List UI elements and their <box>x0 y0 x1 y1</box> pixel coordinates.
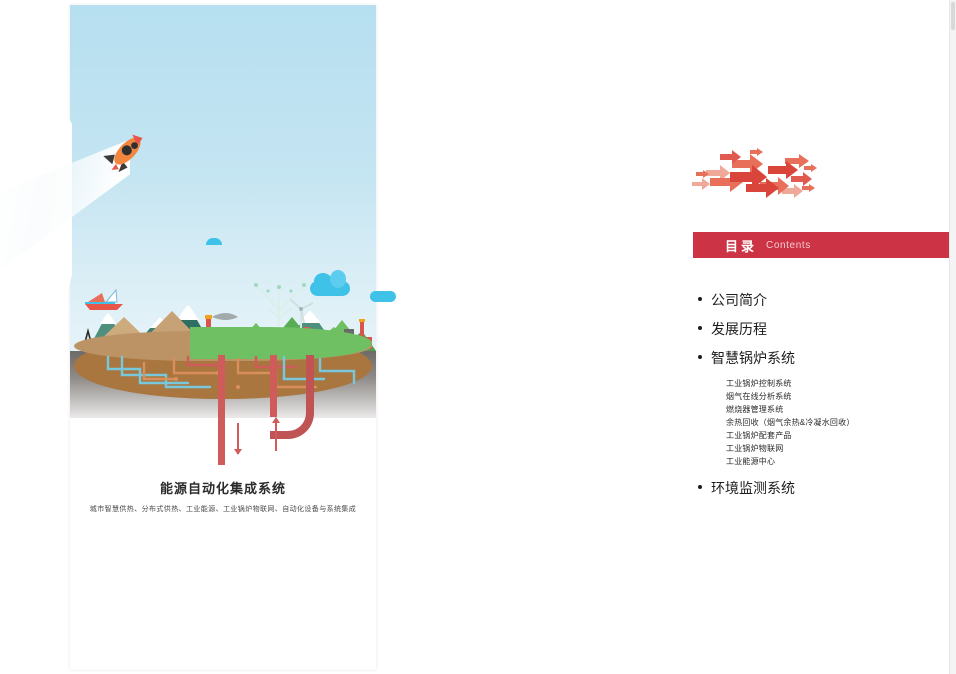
toc-banner: 目录 Contents <box>693 232 953 258</box>
flow-arrow-down-icon <box>237 423 239 451</box>
toc-subitem-boiler-iot[interactable]: 工业锅炉物联网 <box>726 442 948 455</box>
toc-item-label: 公司简介 <box>711 290 767 310</box>
toc-subitem-flue-gas-analysis[interactable]: 烟气在线分析系统 <box>726 390 948 403</box>
cover-page: 能源自动化集成系统 城市智慧供热、分布式供热、工业能源、工业锅炉物联网、自动化设… <box>70 5 376 670</box>
cover-subtitle: 城市智慧供热、分布式供热、工业能源、工业锅炉物联网、自动化设备与系统集成 <box>70 504 376 514</box>
main-pipe-right <box>270 355 277 417</box>
rocket-plume-offpage <box>0 5 72 545</box>
bullet-icon <box>698 485 702 489</box>
toc-item-history[interactable]: 发展历程 <box>698 319 948 339</box>
toc-item-smart-boiler-system[interactable]: 智慧锅炉系统 <box>698 348 948 368</box>
toc-subitem-burner-management[interactable]: 燃烧器管理系统 <box>726 403 948 416</box>
toc-item-environmental-monitoring[interactable]: 环境监测系统 <box>698 478 948 498</box>
energy-ecosystem-illustration <box>70 5 376 418</box>
scrollbar-thumb[interactable] <box>951 2 955 30</box>
toc-item-label: 智慧锅炉系统 <box>711 348 795 368</box>
toc-item-label: 环境监测系统 <box>711 478 795 498</box>
toc-subitem-boiler-control[interactable]: 工业锅炉控制系统 <box>726 377 948 390</box>
toc-subitem-waste-heat-recovery[interactable]: 余热回收（烟气余热&冷凝水回收） <box>726 416 948 429</box>
table-of-contents-page: 目录 Contents 公司简介 发展历程 智慧锅炉系统 工业锅炉控制系统 烟气… <box>660 0 956 674</box>
toc-banner-title-cn: 目录 <box>725 236 757 255</box>
bullet-icon <box>698 355 702 359</box>
bullet-icon <box>698 326 702 330</box>
toc-item-label: 发展历程 <box>711 319 767 339</box>
toc-subitem-group: 工业锅炉控制系统 烟气在线分析系统 燃烧器管理系统 余热回收（烟气余热&冷凝水回… <box>726 377 948 468</box>
toc-subitem-energy-center[interactable]: 工业能源中心 <box>726 455 948 468</box>
main-pipe-far-right <box>306 355 314 415</box>
toc-item-company-intro[interactable]: 公司简介 <box>698 290 948 310</box>
cloud-icon-small <box>206 238 222 245</box>
cover-title: 能源自动化集成系统 <box>70 478 376 497</box>
main-pipe-left <box>218 355 225 465</box>
toc-subitem-boiler-accessories[interactable]: 工业锅炉配套产品 <box>726 429 948 442</box>
red-arrows-logo <box>690 148 820 204</box>
bullet-icon <box>698 297 702 301</box>
vertical-scrollbar[interactable] <box>949 0 956 674</box>
flow-arrow-up-icon <box>275 423 277 451</box>
toc-banner-title-en: Contents <box>766 240 811 251</box>
toc-list: 公司简介 发展历程 智慧锅炉系统 工业锅炉控制系统 烟气在线分析系统 燃烧器管理… <box>698 290 948 507</box>
